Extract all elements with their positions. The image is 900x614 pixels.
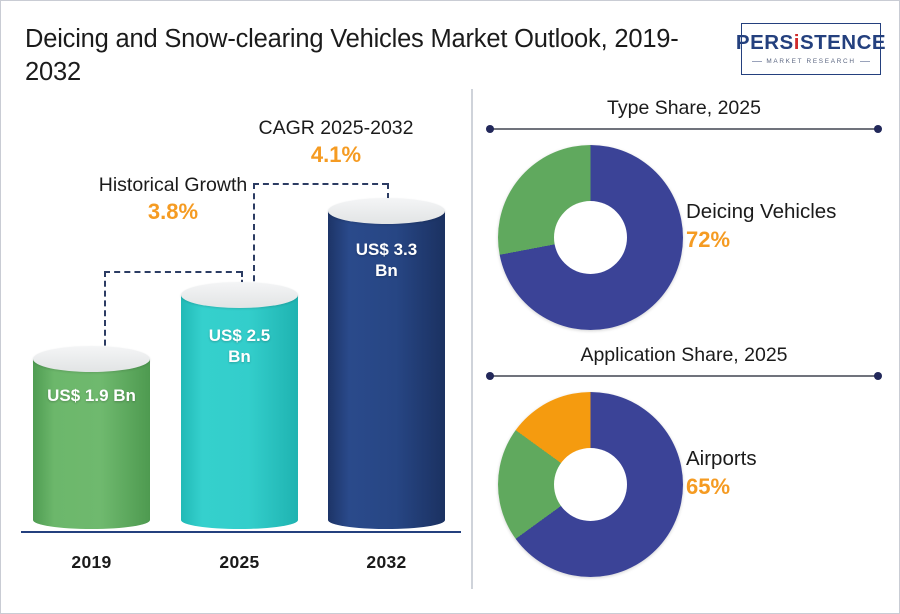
logo-rule-left [752,61,762,62]
brand-logo-wordmark: PERSiSTENCE [736,33,886,54]
type-share-legend-value: 72% [686,226,836,253]
page-title: Deicing and Snow-clearing Vehicles Marke… [25,23,725,89]
historical-growth-label: Historical Growth [93,173,253,198]
cagr-label: CAGR 2025-2032 [236,116,436,141]
type-share-legend: Deicing Vehicles 72% [686,199,836,253]
bar-chart: Historical Growth 3.8% CAGR 2025-2032 4.… [1,91,471,591]
application-share-legend-name: Airports [686,446,757,471]
bar-value-2019: US$ 1.9 Bn [33,385,150,406]
cylinder-2025: US$ 2.5Bn [181,283,298,529]
type-share-donut-hole [554,201,627,274]
brand-logo-part1: PERS [736,31,794,54]
application-share-legend-value: 65% [686,473,757,500]
historical-connector-horizontal [104,271,242,273]
type-share-donut [498,145,683,330]
bar-value-2032-line1: US$ 3.3Bn [356,240,417,280]
axis-label-2032: 2032 [328,552,445,573]
logo-rule-right [860,61,870,62]
bar-group-2019: US$ 1.9 Bn [33,347,150,529]
type-share-legend-name: Deicing Vehicles [686,199,836,224]
brand-logo-tagline: MARKET RESEARCH [766,58,855,65]
cylinder-2032: US$ 3.3Bn [328,199,445,529]
bar-group-2025: US$ 2.5Bn [181,283,298,529]
cagr-connector-horizontal [253,183,388,185]
type-share-panel: Type Share, 2025 Deicing Vehicles 72% [488,97,880,332]
chart-axis-line [21,531,461,534]
cylinder-top-2025 [181,282,298,308]
application-share-donut-hole [554,448,627,521]
historical-growth-annotation: Historical Growth 3.8% [93,173,253,225]
application-share-legend: Airports 65% [686,446,757,500]
axis-label-2019: 2019 [33,552,150,573]
cagr-annotation: CAGR 2025-2032 4.1% [236,116,436,168]
cylinder-2019: US$ 1.9 Bn [33,347,150,529]
bar-group-2032: US$ 3.3Bn [328,199,445,529]
cagr-value: 4.1% [236,142,436,168]
historical-growth-value: 3.8% [93,199,253,225]
brand-logo: PERSiSTENCE MARKET RESEARCH [741,23,881,75]
brand-logo-tagline-wrap: MARKET RESEARCH [752,58,870,65]
bar-value-2025: US$ 2.5Bn [181,325,298,367]
infographic-root: Deicing and Snow-clearing Vehicles Marke… [0,0,900,614]
application-share-panel: Application Share, 2025 Airports 65% [488,344,880,579]
bar-value-2025-line1: US$ 2.5Bn [209,326,270,366]
cylinder-top-2019 [33,346,150,372]
type-share-title: Type Share, 2025 [488,97,880,120]
cylinder-top-2032 [328,198,445,224]
type-share-rule [488,128,880,130]
bar-value-2032: US$ 3.3Bn [328,239,445,281]
application-share-title: Application Share, 2025 [488,344,880,367]
brand-logo-part2: STENCE [800,31,886,54]
application-share-donut [498,392,683,577]
axis-label-2025: 2025 [181,552,298,573]
panel-divider [471,89,473,589]
application-share-rule [488,375,880,377]
